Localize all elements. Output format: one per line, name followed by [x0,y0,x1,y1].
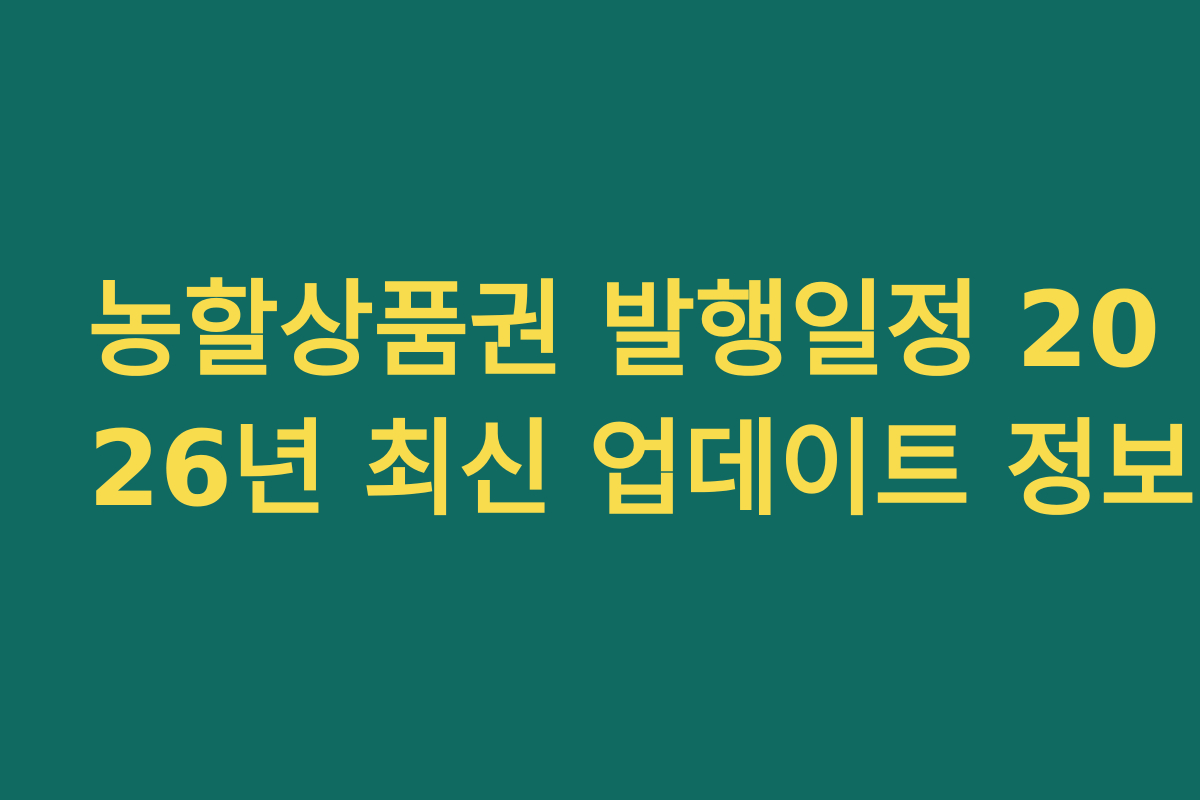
title-card-banner: 농할상품권 발행일정 20 26년 최신 업데이트 정보 [0,0,1200,800]
headline-text: 농할상품권 발행일정 20 26년 최신 업데이트 정보 [88,261,1123,539]
headline-line-1: 농할상품권 발행일정 20 [88,261,1123,400]
headline-line-2: 26년 최신 업데이트 정보 [88,400,1123,539]
